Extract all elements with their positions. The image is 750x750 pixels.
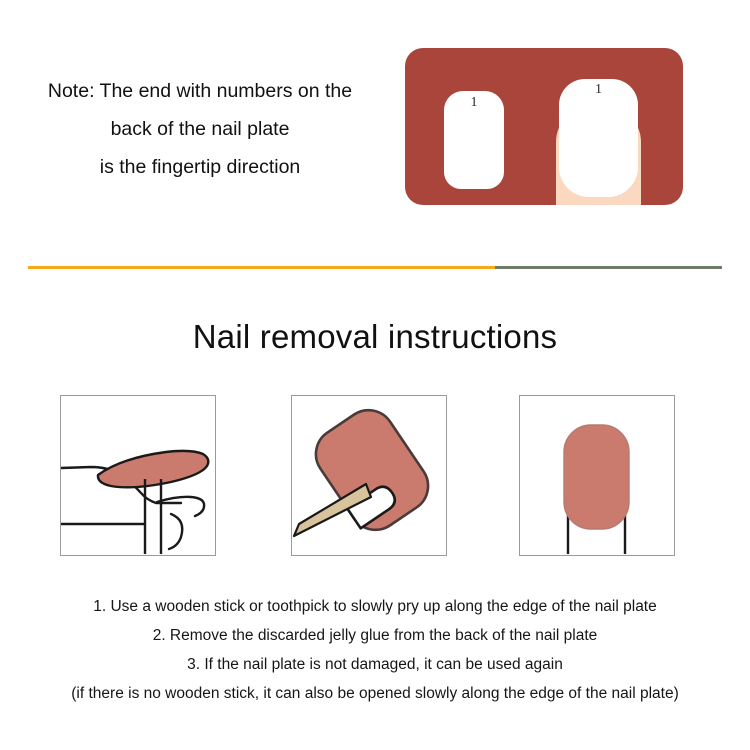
divider-segment-orange bbox=[28, 266, 495, 269]
instruction-list: 1. Use a wooden stick or toothpick to sl… bbox=[0, 592, 750, 708]
pry-up-nail-side-view-icon bbox=[61, 396, 214, 554]
note-block: Note: The end with numbers on the back o… bbox=[0, 72, 400, 186]
nail-sticker-detached: 1 bbox=[444, 91, 504, 189]
note-line-1: Note: The end with numbers on the bbox=[0, 72, 400, 110]
section-divider bbox=[28, 266, 722, 269]
intact-nail-on-finger-icon bbox=[520, 396, 673, 554]
wooden-stick-under-nail-icon bbox=[292, 396, 445, 554]
nail-sticker-number-right: 1 bbox=[559, 82, 638, 98]
illustration-box-2 bbox=[291, 395, 447, 556]
nail-plate-panel-image: 1 1 bbox=[405, 48, 683, 205]
instruction-line-3: 3. If the nail plate is not damaged, it … bbox=[0, 650, 750, 679]
instruction-line-1: 1. Use a wooden stick or toothpick to sl… bbox=[0, 592, 750, 621]
page-title: Nail removal instructions bbox=[0, 318, 750, 356]
illustration-box-1 bbox=[60, 395, 216, 556]
nail-sticker-on-finger: 1 bbox=[559, 79, 638, 197]
divider-segment-green bbox=[495, 266, 722, 269]
nail-sticker-number-left: 1 bbox=[444, 95, 504, 111]
note-line-2: back of the nail plate bbox=[0, 110, 400, 148]
note-line-3: is the fingertip direction bbox=[0, 148, 400, 186]
instruction-line-4: (if there is no wooden stick, it can als… bbox=[0, 679, 750, 708]
illustration-box-3 bbox=[519, 395, 675, 556]
illustration-row bbox=[0, 395, 750, 560]
instruction-line-2: 2. Remove the discarded jelly glue from … bbox=[0, 621, 750, 650]
